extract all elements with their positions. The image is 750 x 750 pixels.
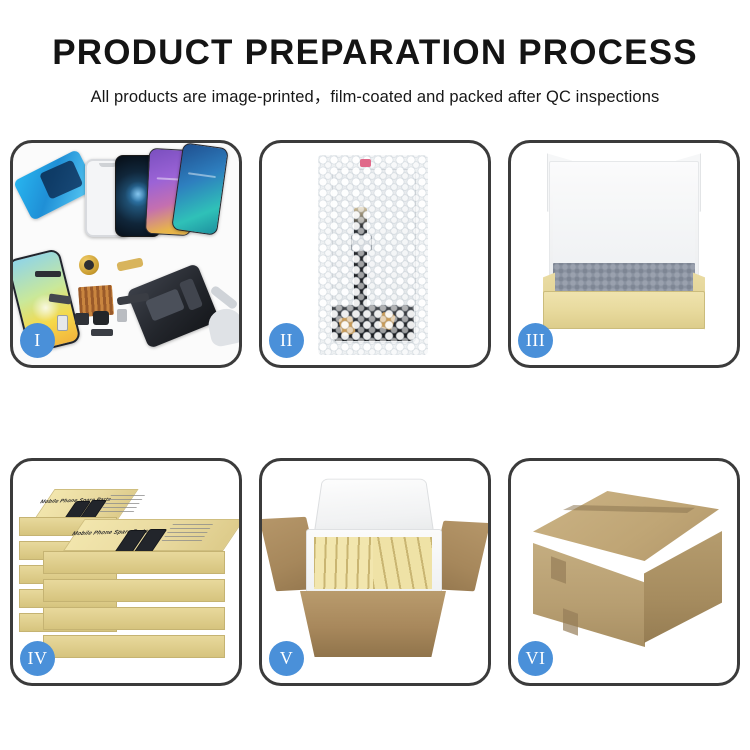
step-panel-6: VI <box>508 458 740 686</box>
carton-tape-mark-2 <box>563 608 578 635</box>
retail-box-front-side-3 <box>43 607 225 630</box>
step-badge-3: III <box>518 323 553 358</box>
step-panel-1: I <box>10 140 242 368</box>
pink-label-tag <box>360 159 371 167</box>
small-part-4 <box>93 311 109 325</box>
phone-back-cover <box>126 263 220 349</box>
box-stack-front: Mobile Phone Spare Parts <box>43 519 223 669</box>
small-part-6 <box>91 329 113 336</box>
small-part-2 <box>57 315 68 331</box>
step-panel-3: III <box>508 140 740 368</box>
page-title: PRODUCT PREPARATION PROCESS <box>0 34 750 73</box>
flex-cable-gold <box>116 257 143 271</box>
box-front-panel <box>543 291 705 329</box>
product-preparation-infographic: PRODUCT PREPARATION PROCESS All products… <box>0 0 750 750</box>
camera-lens-part <box>79 255 99 275</box>
step-badge-6: VI <box>518 641 553 676</box>
step-panel-2: II <box>259 140 491 368</box>
page-subtitle: All products are image-printed，film-coat… <box>0 83 750 107</box>
retail-box-front-1: Mobile Phone Spare Parts <box>63 519 221 553</box>
retail-box-front-side-4 <box>43 635 225 658</box>
process-step-grid: I II <box>10 140 740 686</box>
step-badge-2: II <box>269 323 304 358</box>
boxed-units-right <box>373 537 432 589</box>
boxed-units-area <box>314 537 432 589</box>
step-badge-1: I <box>20 323 55 358</box>
carton-front-panel <box>300 591 446 657</box>
retail-box-front-side-2 <box>43 579 225 602</box>
earpiece-part <box>35 271 61 277</box>
bubble-wrap-package <box>318 155 428 355</box>
step-panel-5: V <box>259 458 491 686</box>
carton-left-face <box>533 543 645 647</box>
step-panel-4: Mobile Phone Spare Parts Mobile <box>10 458 242 686</box>
foam-lid <box>313 479 434 536</box>
retail-box-front-side-1 <box>43 551 225 574</box>
retail-box-back-1: Mobile Phone Spare Parts <box>33 489 115 519</box>
small-part-5 <box>117 309 127 322</box>
step-badge-4: IV <box>20 641 55 676</box>
small-part-3 <box>75 313 89 325</box>
bubble-wrap-texture <box>318 155 428 355</box>
step-badge-5: V <box>269 641 304 676</box>
header: PRODUCT PREPARATION PROCESS All products… <box>0 0 750 107</box>
